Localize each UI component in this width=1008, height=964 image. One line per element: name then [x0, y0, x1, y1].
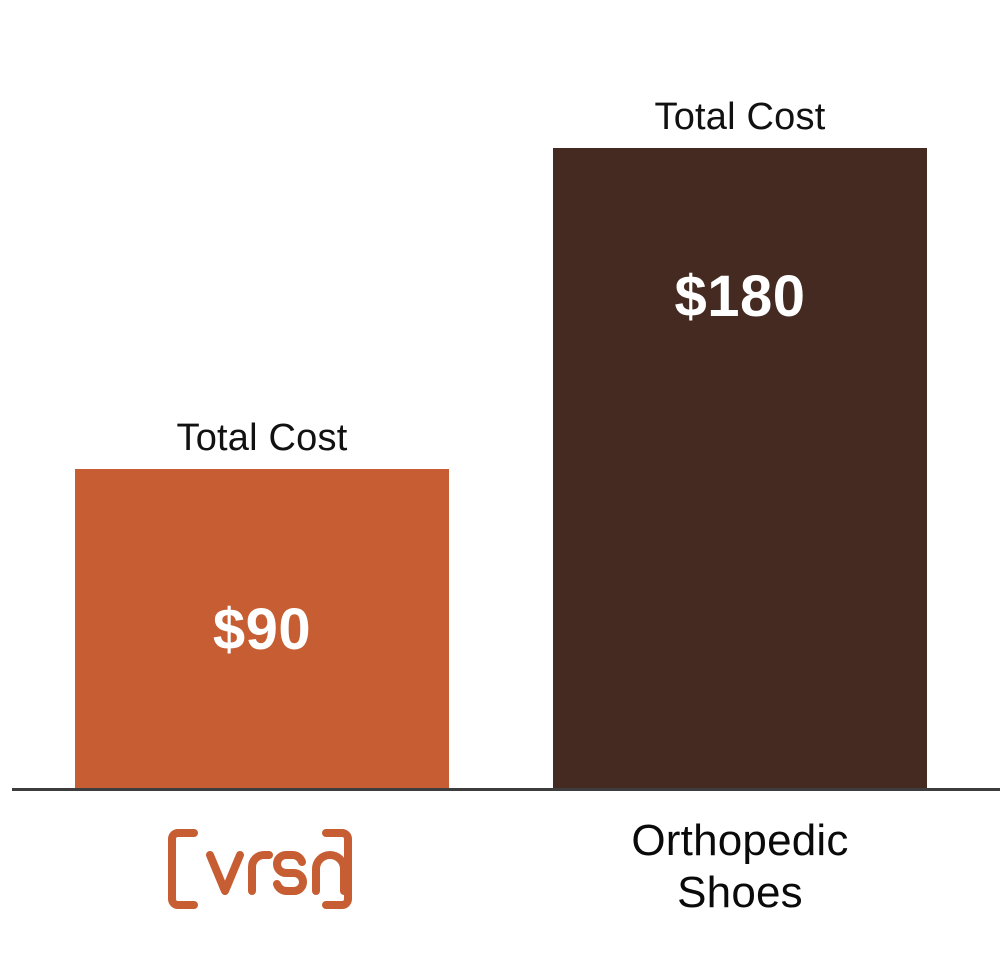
category-label-line-2: Shoes: [553, 867, 927, 919]
vrsn-logo-text: [vrsn]: [356, 829, 357, 830]
bar-value-vrsn: $90: [213, 601, 311, 659]
bar-orthopedic-shoes[interactable]: $180: [553, 148, 927, 790]
bar-group-vrsn: Total Cost $90: [75, 0, 449, 791]
vrsn-logo: [168, 829, 356, 909]
category-label-vrsn: [vrsn]: [75, 829, 449, 914]
category-label-row: [vrsn] Orthopedic Shoes: [0, 791, 1008, 964]
plot-area: Total Cost $90 Total Cost $180: [0, 0, 1008, 791]
cost-comparison-chart: Total Cost $90 Total Cost $180: [0, 0, 1008, 964]
category-label-line-1: Orthopedic: [553, 815, 927, 867]
bar-value-orthopedic-shoes: $180: [674, 268, 805, 326]
category-label-orthopedic-shoes: Orthopedic Shoes: [553, 815, 927, 919]
bar-vrsn[interactable]: $90: [75, 469, 449, 790]
bar-group-orthopedic-shoes: Total Cost $180: [553, 0, 927, 791]
bar-caption-orthopedic-shoes: Total Cost: [553, 97, 927, 139]
bar-caption-vrsn: Total Cost: [75, 418, 449, 460]
